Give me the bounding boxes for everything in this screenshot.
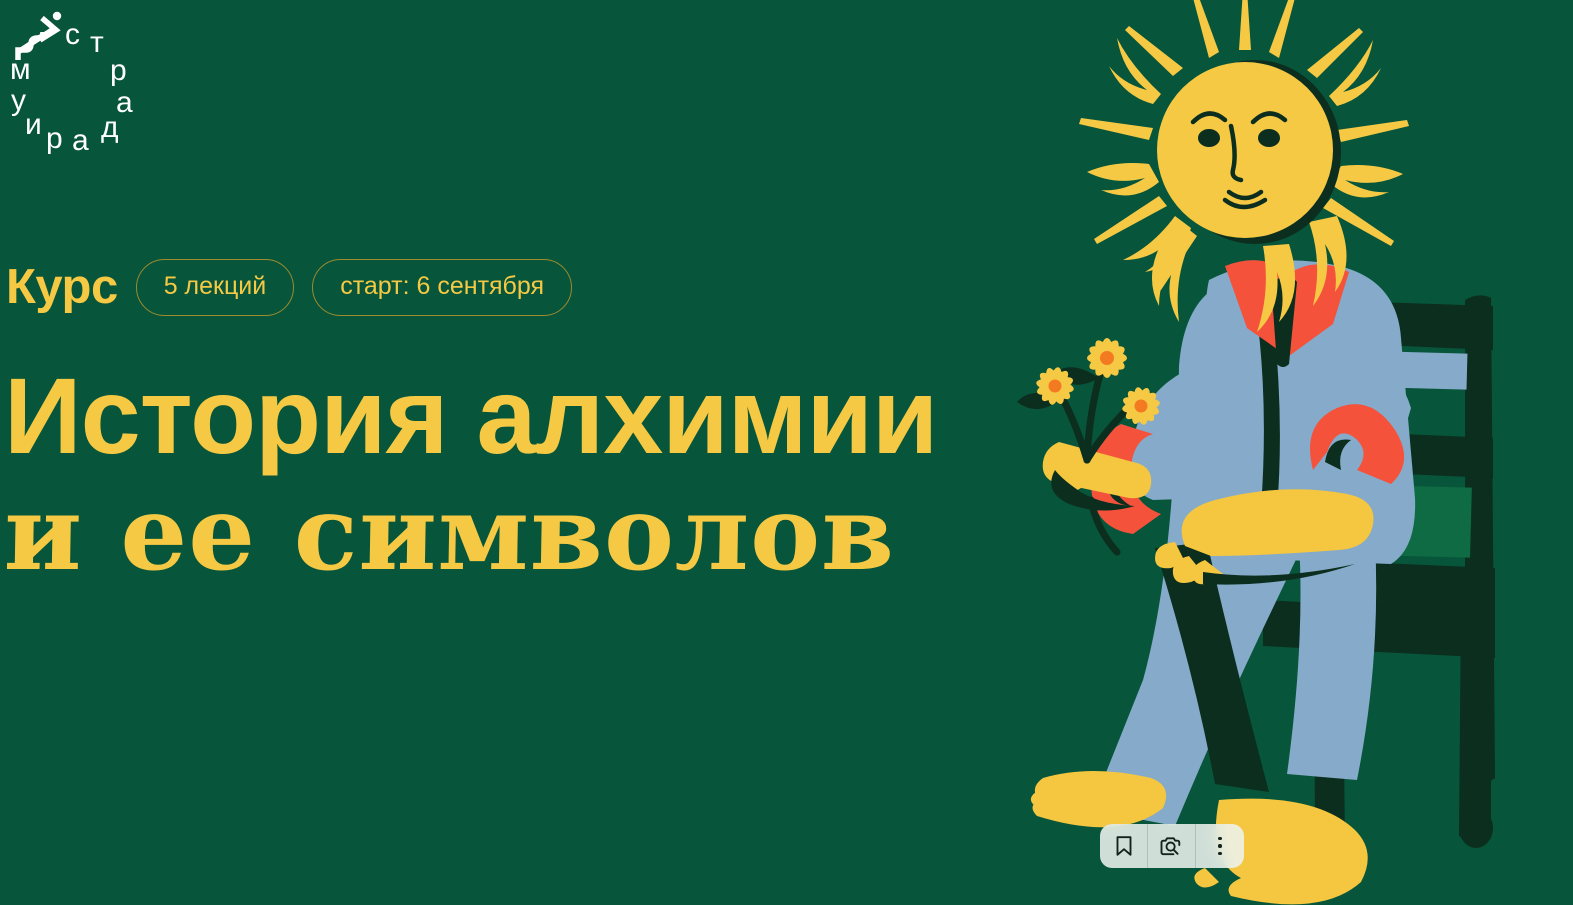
chair-openings bbox=[1343, 350, 1472, 557]
svg-text:д: д bbox=[101, 111, 119, 144]
course-meta-row: Курс 5 лекций старт: 6 сентября bbox=[6, 259, 572, 316]
figure-robe bbox=[1091, 260, 1415, 826]
three-dots-icon bbox=[1218, 837, 1222, 856]
camera-search-icon bbox=[1160, 835, 1184, 857]
more-options-button[interactable] bbox=[1196, 824, 1244, 868]
course-hero-banner: с т р а д а р и у м Курс 5 лекций старт:… bbox=[0, 0, 1573, 905]
badge-lectures-count[interactable]: 5 лекций bbox=[136, 259, 295, 316]
sun-face-shadow bbox=[1169, 60, 1341, 244]
bookmark-icon bbox=[1114, 835, 1134, 857]
svg-text:т: т bbox=[90, 26, 104, 59]
sun-eyes bbox=[1198, 129, 1280, 147]
figure-collar bbox=[1225, 260, 1349, 367]
sun-face-features bbox=[1193, 113, 1285, 207]
sun-face-disc bbox=[1157, 62, 1333, 238]
sun-rays-straight bbox=[1079, 0, 1409, 290]
stradarium-logo[interactable]: с т р а д а р и у м bbox=[6, 4, 156, 154]
pin-action-toolbar[interactable] bbox=[1100, 824, 1244, 868]
save-bookmark-button[interactable] bbox=[1100, 824, 1148, 868]
svg-text:р: р bbox=[46, 122, 63, 154]
figure-right-arm bbox=[1155, 348, 1411, 585]
course-title-line-2: и ее символов bbox=[3, 482, 957, 585]
logo-dot-icon bbox=[53, 12, 61, 20]
flower-top bbox=[1086, 337, 1128, 379]
course-kicker: Курс bbox=[6, 263, 118, 312]
svg-text:и: и bbox=[25, 108, 42, 141]
svg-text:м: м bbox=[10, 53, 31, 86]
flower-left bbox=[1035, 366, 1075, 406]
course-title: История алхимии и ее символов bbox=[4, 362, 937, 585]
figure-left-arm bbox=[1043, 372, 1217, 534]
svg-text:а: а bbox=[72, 124, 89, 154]
seated-sun-figure-illustration bbox=[1013, 0, 1573, 905]
sun-rays-wavy bbox=[1087, 38, 1403, 332]
flower-right bbox=[1121, 386, 1161, 426]
course-title-line-1: История алхимии bbox=[4, 362, 937, 470]
flowers-bouquet bbox=[1017, 337, 1161, 552]
svg-text:с: с bbox=[65, 18, 80, 51]
svg-text:р: р bbox=[110, 54, 127, 87]
chair bbox=[1263, 285, 1495, 866]
svg-text:у: у bbox=[11, 84, 26, 117]
sun-head bbox=[1079, 0, 1409, 332]
illustration-background bbox=[1013, 0, 1573, 905]
visual-search-button[interactable] bbox=[1148, 824, 1196, 868]
badge-start-date[interactable]: старт: 6 сентября bbox=[312, 259, 572, 316]
svg-text:а: а bbox=[116, 86, 133, 119]
